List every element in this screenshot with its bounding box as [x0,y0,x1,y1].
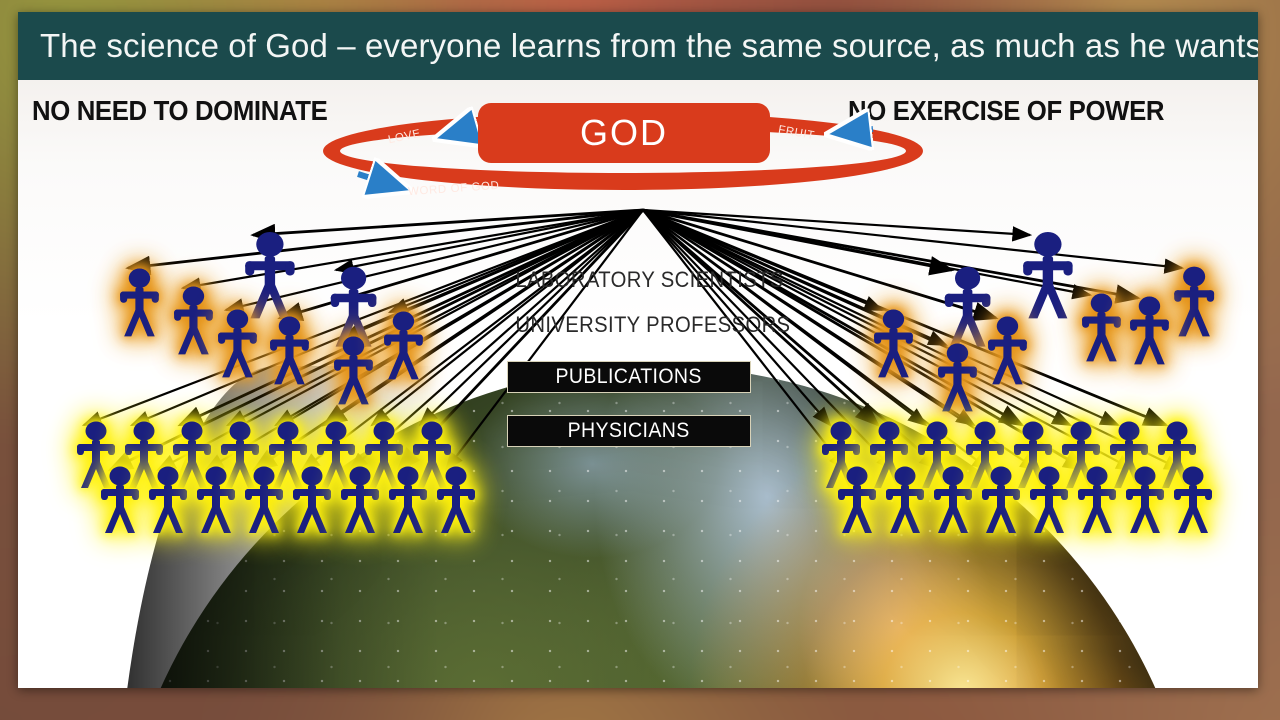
god-box: GOD [478,103,770,163]
stick-figure [882,465,928,535]
label-publications-box: PUBLICATIONS [507,361,751,393]
ray-line [253,210,643,235]
stick-figure [1170,465,1216,535]
stick-figure [289,465,335,535]
stick-figure [1026,465,1072,535]
ray-line [643,210,1030,235]
stick-figure [934,342,981,413]
stick-figure [145,465,191,535]
stick-figure [193,465,239,535]
stick-figure [380,310,427,381]
ring-word-word-of-god: WORD OF GOD [408,180,500,198]
label-physicians: PHYSICIANS [568,419,690,443]
stick-figure [241,465,287,535]
label-publications: PUBLICATIONS [556,365,702,389]
stick-figure [1170,265,1218,339]
god-label: GOD [580,112,668,154]
ray-line [128,210,643,268]
stick-figure [1122,465,1168,535]
ray-line [643,210,952,270]
stick-figure [433,465,479,535]
stick-figure [97,465,143,535]
title-bar: The science of God – everyone learns fro… [18,12,1258,80]
stick-figure [930,465,976,535]
slide-stage: The science of God – everyone learns fro… [0,0,1280,720]
stick-figure [266,315,313,386]
stick-figure [1018,230,1078,321]
stick-figure [1126,295,1173,366]
label-physicians-box: PHYSICIANS [507,415,751,447]
headline-right: NO EXERCISE OF POWER [848,95,1164,127]
stick-figure [984,315,1031,386]
ray-line [336,210,643,270]
slide-title: The science of God – everyone learns fro… [40,22,1258,70]
stick-figure [330,335,377,406]
stick-figure [1078,292,1125,363]
ray-line [643,210,1182,268]
headline-left: NO NEED TO DOMINATE [32,95,327,127]
stick-figure [337,465,383,535]
stick-figure [834,465,880,535]
slide-body: NO NEED TO DOMINATE NO EXERCISE OF POWER… [18,80,1258,688]
label-laboratory-scientists: LABORATORY SCIENTISTS [515,267,754,293]
label-university-professors: UNIVERSITY PROFESSORS [515,312,754,338]
stick-figure [978,465,1024,535]
stick-figure [214,308,261,379]
stick-figure [1074,465,1120,535]
stick-figure [170,285,217,356]
stick-figure [116,267,163,338]
ray-line [390,210,643,312]
presentation-slide: The science of God – everyone learns fro… [18,12,1258,688]
stick-figure [870,308,917,379]
stick-figure [385,465,431,535]
ray-line [643,210,882,310]
